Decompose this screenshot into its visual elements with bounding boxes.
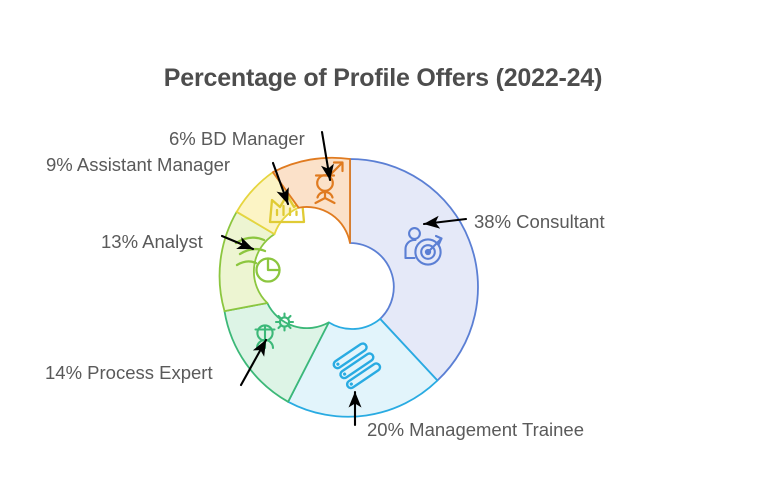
label-management-trainee: 20% Management Trainee xyxy=(367,419,584,441)
label-bd-manager: 6% BD Manager xyxy=(169,128,305,150)
label-consultant: 38% Consultant xyxy=(474,211,605,233)
chart-canvas: Percentage of Profile Offers (2022-24) xyxy=(0,0,766,483)
label-analyst: 13% Analyst xyxy=(101,231,203,253)
label-assistant-manager: 9% Assistant Manager xyxy=(46,154,230,176)
label-process-expert: 14% Process Expert xyxy=(45,362,213,384)
